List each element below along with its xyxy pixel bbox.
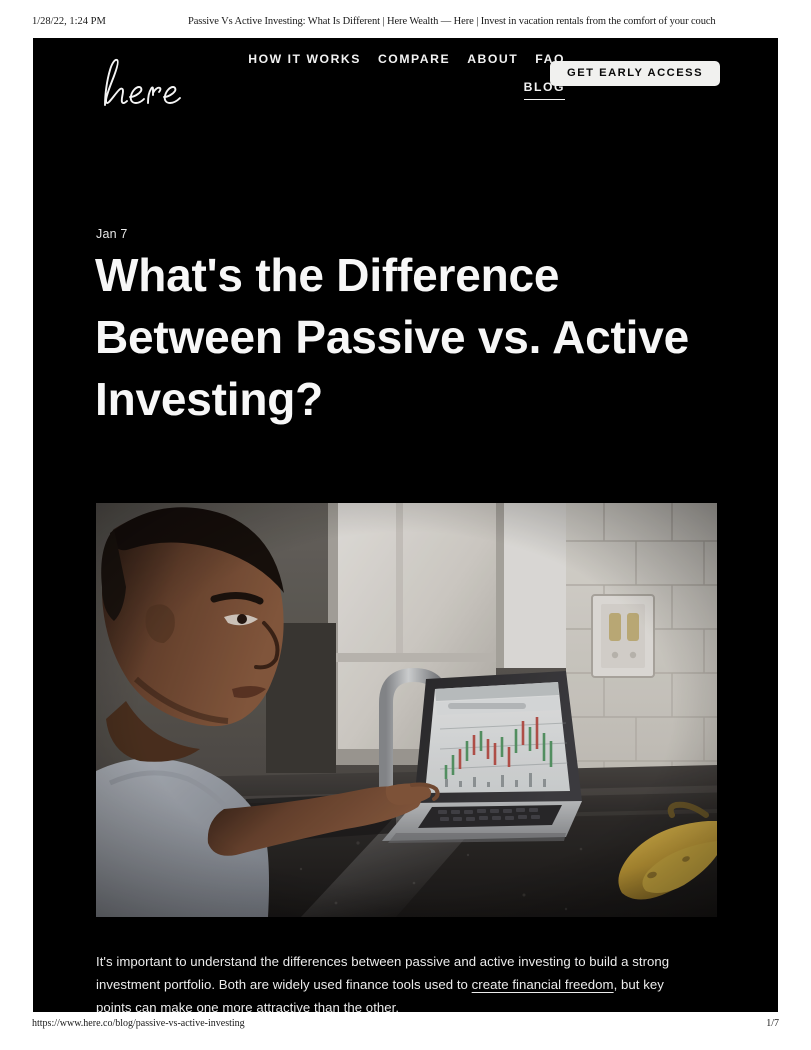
print-header-title: Passive Vs Active Investing: What Is Dif… xyxy=(188,16,716,27)
nav-row-secondary: BLOG xyxy=(205,80,565,102)
nav-links: HOW IT WORKS COMPARE ABOUT FAQ BLOG xyxy=(205,52,565,102)
nav-item-about[interactable]: ABOUT xyxy=(467,52,518,66)
article-title: What's the Difference Between Passive vs… xyxy=(95,244,735,430)
nav-row-primary: HOW IT WORKS COMPARE ABOUT FAQ xyxy=(205,52,565,74)
article-hero-image xyxy=(96,503,717,917)
article-lede: It's important to understand the differe… xyxy=(96,950,690,1012)
create-financial-freedom-link[interactable]: create financial freedom xyxy=(472,977,614,992)
nav-item-how-it-works[interactable]: HOW IT WORKS xyxy=(248,52,361,66)
site-navbar: HOW IT WORKS COMPARE ABOUT FAQ BLOG GET … xyxy=(33,38,778,118)
print-footer-page-number: 1/7 xyxy=(766,1018,779,1029)
hero-photo-illustration xyxy=(96,503,717,917)
print-header: 1/28/22, 1:24 PM Passive Vs Active Inves… xyxy=(0,0,811,38)
print-header-date: 1/28/22, 1:24 PM xyxy=(32,16,106,27)
print-footer-url: https://www.here.co/blog/passive-vs-acti… xyxy=(32,1018,245,1029)
article-date: Jan 7 xyxy=(96,227,128,241)
nav-item-compare[interactable]: COMPARE xyxy=(378,52,450,66)
here-logo-icon xyxy=(94,56,190,108)
get-early-access-button[interactable]: GET EARLY ACCESS xyxy=(550,61,720,86)
here-logo[interactable] xyxy=(94,56,190,108)
page-canvas: HOW IT WORKS COMPARE ABOUT FAQ BLOG GET … xyxy=(33,38,778,1012)
